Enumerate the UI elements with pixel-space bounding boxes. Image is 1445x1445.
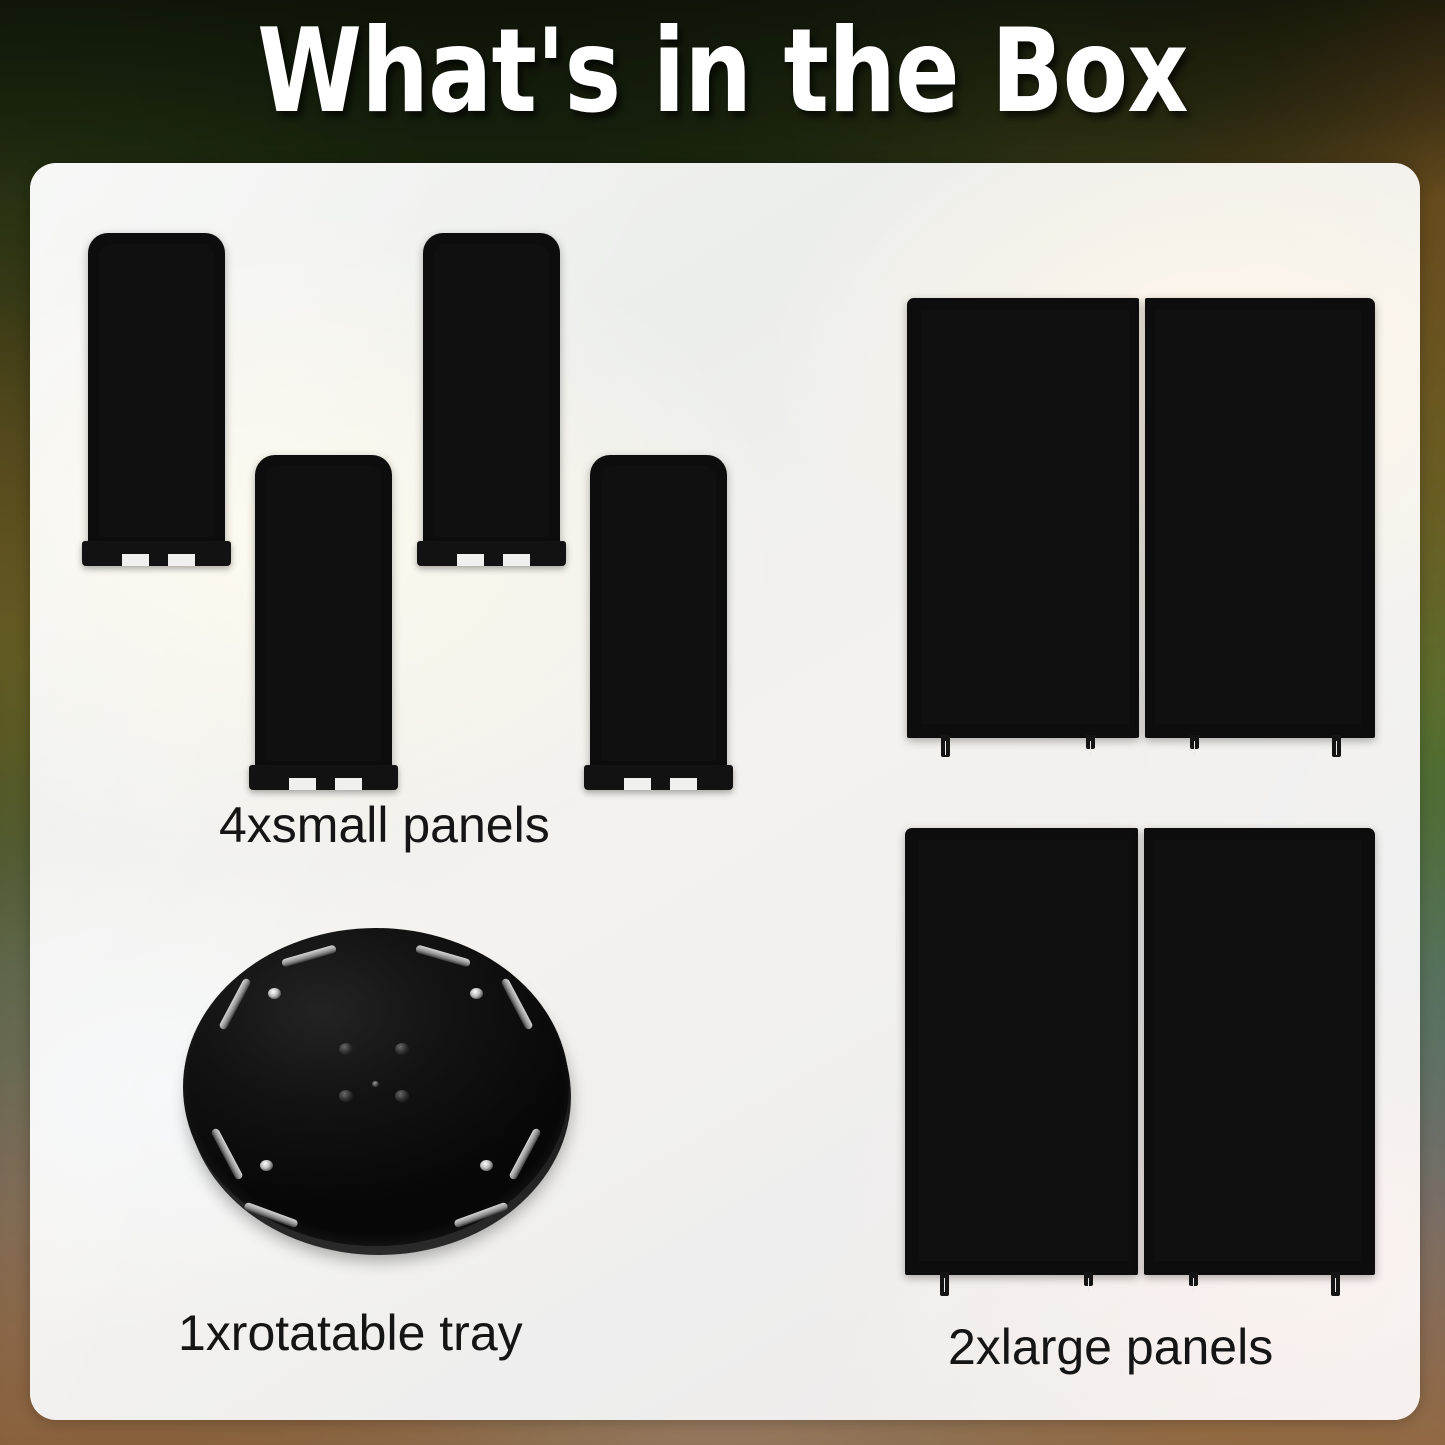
panel-mesh [921,310,1129,724]
foot-notch [457,554,484,566]
panel-mesh [1154,840,1361,1261]
tray-center-bump [395,1090,409,1102]
tray-screw-boss [260,1160,273,1171]
panel-foot [417,541,566,566]
panel-mesh [266,466,381,761]
panel-foot [249,765,398,790]
panel-foot [82,541,231,566]
tray-center-bump [339,1043,353,1055]
panel-pin [1332,735,1341,757]
large-panel [1144,828,1375,1275]
tray-slot [210,1127,243,1180]
foot-notch [624,778,651,790]
foot-notch [503,554,530,566]
panel-pin [1190,735,1199,749]
tray-center-bump [339,1090,353,1102]
tray-slot [508,1127,541,1180]
panel-pin [1331,1272,1340,1296]
foot-notch [122,554,149,566]
panel-mesh [919,840,1128,1261]
tray-slot [415,944,471,967]
panel-mesh [1155,310,1361,724]
infographic-stage: What's in the Box [0,0,1445,1445]
tray-screw-boss [480,1160,493,1171]
panel-mesh [434,244,549,537]
caption-rotatable-tray: 1xrotatable tray [178,1308,523,1358]
rotatable-tray [183,928,575,1255]
foot-notch [335,778,362,790]
tray-slot [500,977,533,1030]
page-title: What's in the Box [130,14,1315,130]
foot-notch [289,778,316,790]
panel-pin [940,1272,949,1296]
large-panel [1145,298,1375,738]
tray-slot [218,977,251,1030]
panel-pin [1086,735,1095,749]
caption-small-panels: 4xsmall panels [219,800,550,850]
panel-pin [1084,1272,1093,1286]
panel-mesh [601,466,716,761]
panel-pin [1189,1272,1198,1286]
small-panel [590,455,727,777]
small-panel [423,233,560,553]
small-panel [255,455,392,777]
large-panel [907,298,1139,738]
tray-center-bump [395,1043,409,1055]
tray-surface [183,928,569,1246]
tray-center-point [372,1081,379,1087]
panel-foot [584,765,733,790]
large-panel [905,828,1138,1275]
foot-notch [168,554,195,566]
small-panel [88,233,225,553]
caption-large-panels: 2xlarge panels [948,1322,1273,1372]
panel-mesh [99,244,214,537]
tray-screw-boss [268,988,281,999]
tray-screw-boss [470,988,483,999]
foot-notch [670,778,697,790]
panel-pin [941,735,950,757]
tray-slot [281,944,337,967]
